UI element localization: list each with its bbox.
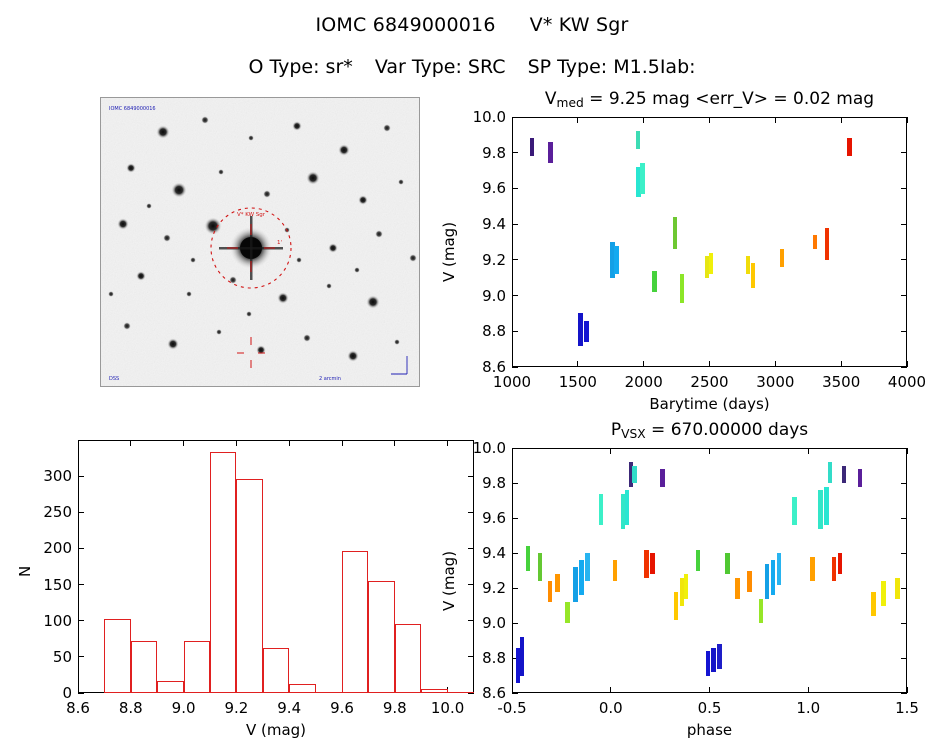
phase-title: PVSX = 670.00000 days [512,420,907,441]
axis-tick [289,440,290,446]
header-line-2: O Type: sr* Var Type: SRC SP Type: M1.5I… [0,56,944,78]
axis-tick [78,620,84,621]
histogram-bar [368,581,394,693]
lightcurve-xaxis-label: Barytime (days) [512,395,907,413]
axis-tick [78,693,84,694]
histogram-bar [395,624,421,693]
data-point [599,494,604,526]
data-point [838,553,843,574]
data-point [751,263,756,288]
data-point [674,592,679,620]
axis-tick-label: 9.8 [466,144,506,162]
axis-tick [78,584,84,585]
finder-chart-svg: V* KW Sgr 1' IOMC 6849000016 DSS 2 arcmi… [101,98,419,386]
data-point [673,217,678,249]
axis-tick [901,224,907,225]
axis-tick [512,117,513,123]
histogram-bar [263,648,289,693]
phase-title-rest: = 670.00000 days [646,420,809,440]
data-point [725,553,730,574]
data-point [579,560,584,595]
data-point [614,246,619,275]
data-point [520,637,525,676]
axis-tick [610,448,611,454]
axis-tick [342,440,343,446]
data-point [777,553,782,585]
data-point [680,274,685,303]
axis-tick-label: 9.2 [466,251,506,269]
axis-tick-label: 10.0 [431,699,464,717]
data-point [555,574,560,592]
data-point [842,466,847,484]
histogram-baseline [104,692,474,693]
axis-tick [512,117,518,118]
data-point [780,249,785,267]
sptype-value: M1.5Iab: [613,56,695,78]
axis-tick-label: 100 [32,612,72,630]
data-point [584,321,589,342]
axis-tick [709,448,710,454]
histogram-bar [104,619,130,693]
axis-tick-label: 9.6 [330,699,354,717]
axis-tick [577,117,578,123]
data-point [613,560,618,581]
axis-tick-label: 200 [32,539,72,557]
data-point [711,648,716,673]
data-point [824,487,829,526]
finder-chart-image: V* KW Sgr 1' IOMC 6849000016 DSS 2 arcmi… [100,97,420,387]
finder-circle-label: 1' [277,240,282,246]
axis-tick [901,588,907,589]
axis-tick [512,295,518,296]
axis-tick-label: 250 [32,503,72,521]
data-point [684,574,689,599]
axis-tick [610,687,611,693]
data-point [640,163,645,193]
data-point [771,560,776,595]
lightcurve-title-main: V [545,89,557,109]
data-point [759,599,764,624]
axis-tick [512,553,518,554]
axis-tick [577,361,578,367]
phase-yaxis-label: V (mag) [440,550,458,610]
finder-id-label: IOMC 6849000016 [109,106,156,112]
axis-tick [643,117,644,123]
axis-tick [901,367,907,368]
axis-tick-label: 300 [32,467,72,485]
data-point [660,469,665,487]
vartype-label: Var Type: [375,56,462,78]
axis-tick [394,440,395,446]
figure-root: IOMC 6849000016V* KW Sgr O Type: sr* Var… [0,0,944,747]
axis-tick [901,188,907,189]
axis-tick [808,687,809,693]
axis-tick [512,331,518,332]
axis-tick-label: 150 [32,576,72,594]
axis-tick-label: 8.8 [119,699,143,717]
axis-tick [808,448,809,454]
data-point [828,462,833,483]
axis-tick [841,361,842,367]
otype-label: O Type: [248,56,319,78]
data-point [871,592,876,617]
axis-tick [512,483,518,484]
axis-tick-label: 10.0 [466,439,506,457]
phase-title-main: P [611,420,621,440]
axis-tick-label: 0.5 [698,699,722,717]
axis-tick-label: 9.0 [466,614,506,632]
axis-tick-label: 0.0 [599,699,623,717]
axis-tick-label: 8.6 [466,358,506,376]
axis-tick-label: 50 [32,648,72,666]
axis-tick [447,440,448,446]
iomc-id: IOMC 6849000016 [315,14,495,36]
data-point [832,557,837,582]
data-point [548,142,553,163]
axis-tick [236,440,237,446]
axis-tick [512,259,518,260]
axis-tick [512,188,518,189]
lightcurve-title-sub: med [557,96,584,110]
axis-tick-label: 9.8 [466,474,506,492]
axis-tick [78,440,79,446]
data-point [578,313,583,345]
axis-tick [901,693,907,694]
axis-tick [512,588,518,589]
data-point [747,571,752,592]
lightcurve-yaxis-label: V (mag) [440,222,458,282]
data-point [625,490,630,525]
axis-tick [901,331,907,332]
axis-tick [775,117,776,123]
data-point [530,138,535,156]
data-point [717,644,722,669]
histogram-bar [184,641,210,693]
phase-xaxis-label: phase [512,721,907,739]
otype-value: sr* [326,56,353,78]
finder-dss-label: DSS [109,376,119,382]
axis-tick-label: 9.6 [466,179,506,197]
data-point [548,581,553,602]
axis-tick [901,658,907,659]
axis-tick-label: 9.4 [466,215,506,233]
axis-tick-label: 9.8 [383,699,407,717]
axis-tick [709,117,710,123]
axis-tick-label: 9.4 [277,699,301,717]
axis-tick-label: 9.2 [466,579,506,597]
axis-tick [709,361,710,367]
axis-tick [901,152,907,153]
data-point [632,466,637,484]
histogram-bar [236,479,262,693]
data-point [636,131,641,149]
header-line-1: IOMC 6849000016V* KW Sgr [0,14,944,36]
axis-tick-label: 9.2 [224,699,248,717]
axis-tick-label: 1.0 [796,699,820,717]
axis-tick [512,224,518,225]
histogram-bar [210,452,236,693]
axis-tick-label: 8.8 [466,322,506,340]
data-point [881,581,886,606]
axis-tick-label: 9.0 [172,699,196,717]
axis-tick [78,512,84,513]
axis-tick-label: 8.6 [466,684,506,702]
axis-tick [775,361,776,367]
axis-tick [907,117,908,123]
data-point [696,550,701,571]
axis-tick [512,448,518,449]
data-point [858,469,863,487]
histogram-xaxis-label: V (mag) [78,721,474,739]
axis-tick [901,448,907,449]
axis-tick [643,361,644,367]
axis-tick-label: 4000 [888,373,926,391]
data-point [650,553,655,574]
axis-tick-label: 8.8 [466,649,506,667]
data-point [895,578,900,599]
axis-tick-label: 1.5 [895,699,919,717]
axis-tick [512,623,518,624]
histogram-bar [342,551,368,693]
data-point [709,253,714,274]
object-name: V* KW Sgr [530,14,629,36]
axis-tick [512,693,518,694]
axis-tick-label: 3500 [822,373,860,391]
data-point [765,564,770,599]
axis-tick [512,448,513,454]
data-point [810,557,815,582]
axis-tick [512,367,518,368]
axis-tick [901,483,907,484]
axis-tick [901,259,907,260]
histogram-bar [131,641,157,693]
data-point [538,553,543,581]
lightcurve-title-rest: = 9.25 mag <err_V> = 0.02 mag [584,89,874,109]
phase-title-sub: VSX [621,427,646,441]
axis-tick-label: 9.6 [466,509,506,527]
data-point [746,256,751,274]
data-point [818,490,823,529]
axis-tick [130,440,131,446]
data-point [644,550,649,578]
axis-tick [512,518,518,519]
data-point [526,546,531,571]
axis-tick [512,152,518,153]
sptype-label: SP Type: [528,56,608,78]
axis-tick-label: 9.0 [466,287,506,305]
axis-tick [183,440,184,446]
data-point [706,651,711,676]
axis-tick [78,656,84,657]
axis-tick [841,117,842,123]
axis-tick-label: 1500 [559,373,597,391]
axis-tick-label: 0 [32,684,72,702]
data-point [813,235,818,249]
axis-tick [78,548,84,549]
axis-tick-label: 10.0 [466,108,506,126]
data-point [825,228,830,260]
data-point [735,578,740,599]
vartype-value: SRC [468,56,506,78]
lightcurve-title: Vmed = 9.25 mag <err_V> = 0.02 mag [512,89,907,110]
data-point [565,602,570,623]
data-point [652,271,657,292]
axis-tick [78,476,84,477]
axis-tick-label: 2000 [625,373,663,391]
axis-tick [907,448,908,454]
axis-tick [901,623,907,624]
axis-tick-label: 3000 [756,373,794,391]
axis-tick [901,117,907,118]
finder-scale-label: 2 arcmin [319,376,341,382]
axis-tick-label: 9.4 [466,544,506,562]
data-point [585,553,590,581]
data-point [573,567,578,602]
axis-tick [901,553,907,554]
axis-tick [709,687,710,693]
axis-tick-label: 2500 [690,373,728,391]
data-point [792,497,797,525]
axis-tick [901,518,907,519]
data-point [847,138,852,156]
axis-tick [901,295,907,296]
finder-object-label: V* KW Sgr [237,212,266,218]
